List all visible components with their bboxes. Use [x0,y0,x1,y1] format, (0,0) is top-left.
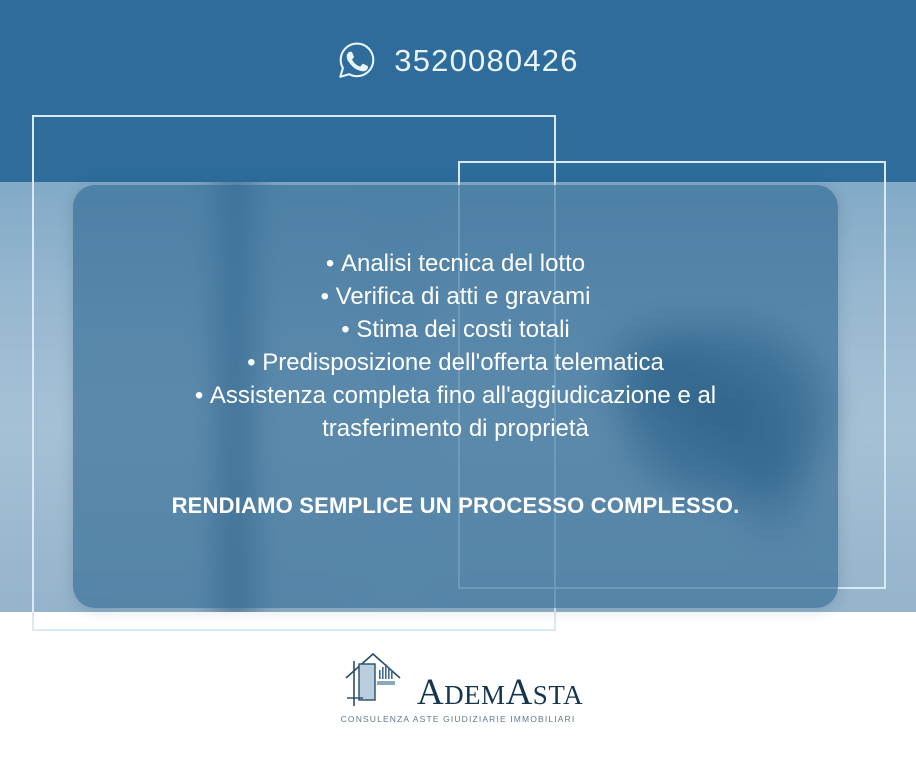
logo-subtitle: CONSULENZA ASTE GIUDIZIARIE IMMOBILIARI [341,714,576,724]
whatsapp-icon [337,40,377,80]
logo-word-a2: A [506,672,533,713]
promo-poster: 3520080426 Analisi tecnica del lotto Ver… [0,0,916,768]
logo-word-a1: A [417,672,444,713]
logo-row: ADEMASTA [333,648,583,710]
list-item: Analisi tecnica del lotto [136,247,776,280]
logo-wordmark: ADEMASTA [417,676,583,710]
list-item: Predisposizione dell'offerta telematica [136,346,776,379]
logo-word-sta: STA [533,680,583,710]
tagline: RENDIAMO SEMPLICE UN PROCESSO COMPLESSO. [172,493,740,519]
brand-logo: ADEMASTA CONSULENZA ASTE GIUDIZIARIE IMM… [0,648,916,724]
logo-word-dem: DEM [444,680,506,710]
list-item: Verifica di atti e gravami [136,280,776,313]
services-list: Analisi tecnica del lotto Verifica di at… [136,247,776,445]
list-item: Stima dei costi totali [136,313,776,346]
contact-header: 3520080426 [0,34,916,86]
list-item: Assistenza completa fino all'aggiudicazi… [136,379,776,445]
phone-number[interactable]: 3520080426 [394,45,578,76]
house-logo-icon [333,648,411,710]
card-content: Analisi tecnica del lotto Verifica di at… [73,185,838,608]
